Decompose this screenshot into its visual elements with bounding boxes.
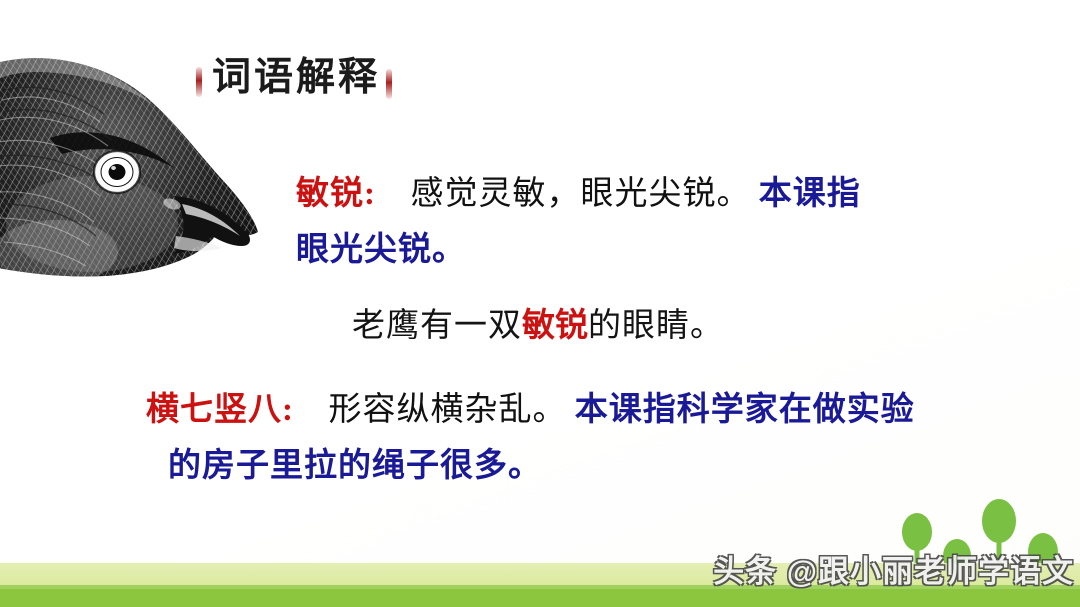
term-label-minrui: 敏锐: [296, 176, 376, 212]
example-highlight-word: 敏锐 [522, 308, 588, 344]
note-text-minrui-line1: 本课指 [759, 176, 861, 212]
definition-entry-minrui: 敏锐: 感觉灵敏，眼光尖锐。 本课指 眼光尖锐。 [296, 166, 861, 278]
gloss-text-hengqishuba: 形容纵横杂乱。 [329, 392, 567, 428]
note-text-hengqishuba-line2: 的房子里拉的绳子很多。 [168, 448, 542, 484]
tree-canopy [982, 499, 1016, 543]
example-prefix: 老鹰有一双 [352, 308, 522, 344]
definition-line-2: 眼光尖锐。 [296, 222, 861, 278]
definition-entry-hengqishuba: 横七竖八: 形容纵横杂乱。 本课指科学家在做实验 的房子里拉的绳子很多。 [146, 382, 915, 494]
note-text-minrui-line2: 眼光尖锐。 [296, 232, 466, 268]
definition-line-2: 的房子里拉的绳子很多。 [168, 438, 915, 494]
note-text-hengqishuba-line1: 本课指科学家在做实验 [575, 392, 915, 428]
slide-canvas: 词语解释 敏锐: 感觉灵敏，眼光尖锐。 本课指 眼光尖锐。 老鹰有一双敏锐的眼睛… [0, 0, 1080, 607]
example-suffix: 的眼睛。 [588, 308, 724, 344]
example-sentence-minrui: 老鹰有一双敏锐的眼睛。 [352, 298, 724, 354]
term-label-hengqishuba: 横七竖八: [146, 392, 294, 428]
gloss-text-minrui: 感觉灵敏，眼光尖锐。 [411, 176, 751, 212]
example-line: 老鹰有一双敏锐的眼睛。 [352, 298, 724, 354]
definition-line-1: 敏锐: 感觉灵敏，眼光尖锐。 本课指 [296, 166, 861, 222]
watermark-text: 头条 @跟小丽老师学语文 [713, 546, 1074, 591]
definition-line-1: 横七竖八: 形容纵横杂乱。 本课指科学家在做实验 [146, 382, 915, 438]
